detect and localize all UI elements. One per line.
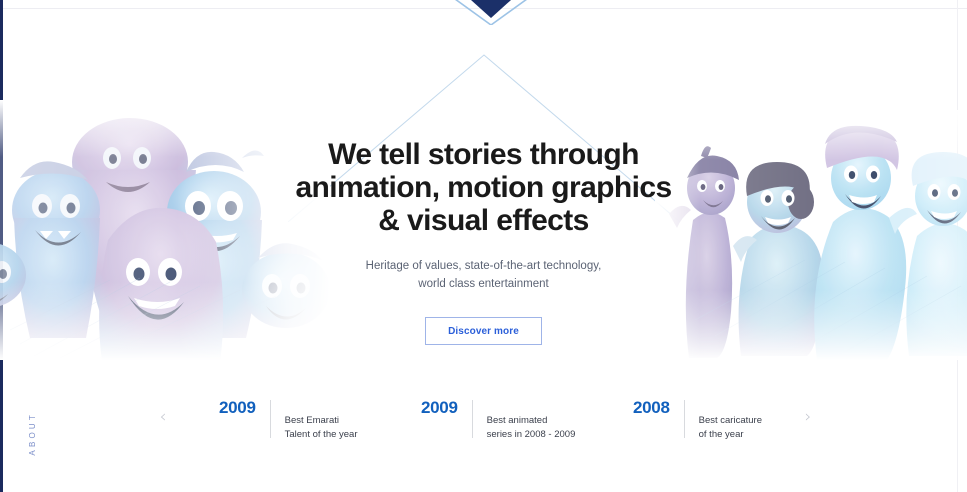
award-desc-line-2: series in 2008 - 2009 [487,428,576,442]
award-desc-line-1: Best Emarati [285,414,358,428]
subtitle-line-1: Heritage of values, state-of-the-art tec… [0,257,967,275]
hero-copy: We tell stories through animation, motio… [0,138,967,345]
headline-line-3: & visual effects [0,204,967,237]
award-description: Best animated series in 2008 - 2009 [487,414,576,442]
award-desc-line-1: Best animated [487,414,576,428]
scroll-marker-triangle-icon[interactable] [455,0,527,25]
discover-more-button[interactable]: Discover more [425,317,542,345]
hero-section: We tell stories through animation, motio… [0,0,967,492]
awards-carousel: ‹ › 2009 Best Emarati Talent of the year… [0,398,967,458]
chevron-right-icon[interactable]: › [797,406,819,428]
subtitle-line-2: world class entertainment [0,275,967,293]
headline-line-1: We tell stories through [0,138,967,171]
award-desc-line-1: Best caricature [699,414,762,428]
award-item[interactable]: 2008 Best caricature of the year [633,398,762,442]
hero-subtitle: Heritage of values, state-of-the-art tec… [0,257,967,293]
award-year: 2009 [421,398,458,418]
award-description: Best Emarati Talent of the year [285,414,358,442]
award-description: Best caricature of the year [699,414,762,442]
award-item[interactable]: 2009 Best Emarati Talent of the year [219,398,358,442]
chevron-left-icon[interactable]: ‹ [152,406,174,428]
cta-container: Discover more [0,317,967,345]
award-year: 2009 [219,398,256,418]
award-desc-line-2: Talent of the year [285,428,358,442]
page-title: We tell stories through animation, motio… [0,138,967,237]
award-item[interactable]: 2009 Best animated series in 2008 - 2009 [421,398,575,442]
award-desc-line-2: of the year [699,428,762,442]
award-divider [270,400,271,438]
award-divider [684,400,685,438]
award-divider [472,400,473,438]
headline-line-2: animation, motion graphics [0,171,967,204]
award-year: 2008 [633,398,670,418]
